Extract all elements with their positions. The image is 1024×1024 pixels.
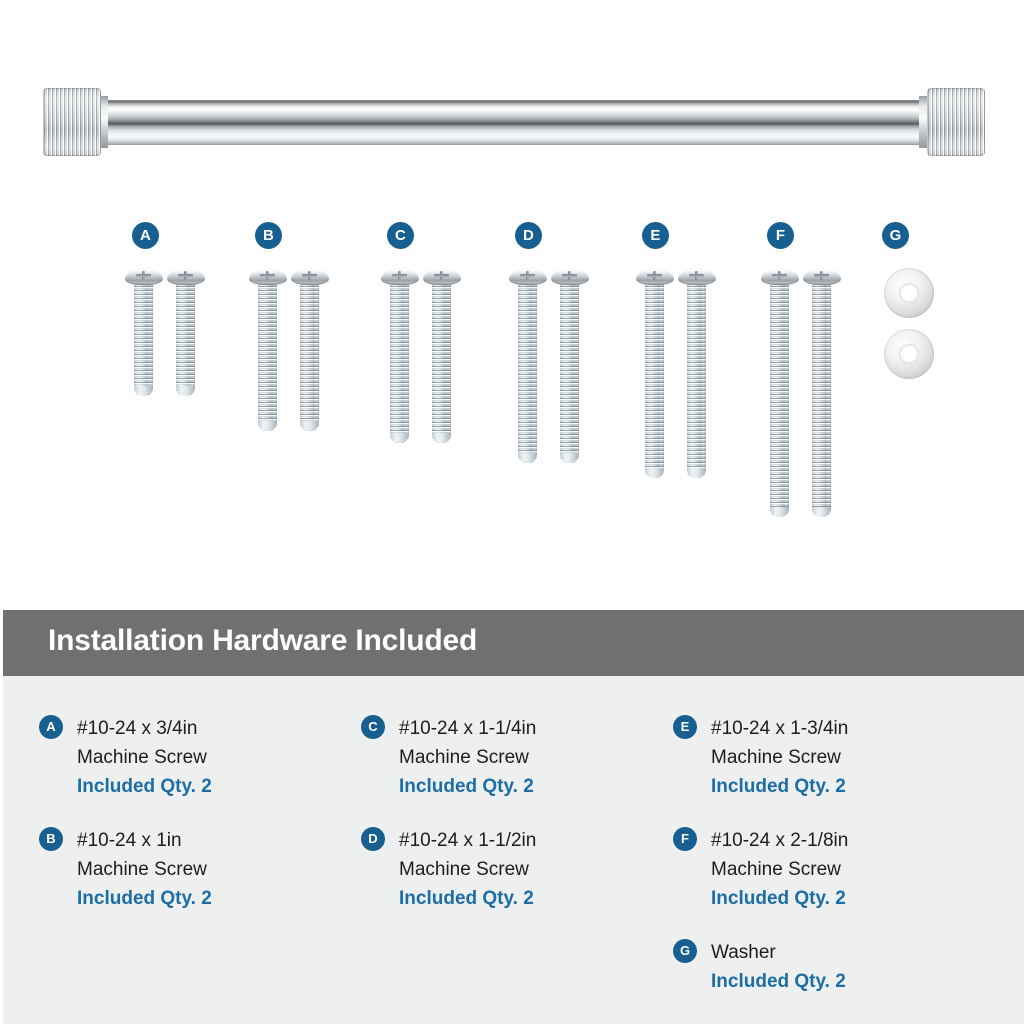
screw-shaft	[258, 281, 277, 431]
washer-icon	[884, 268, 934, 318]
legend-qty-label: Included Qty. 2	[399, 772, 671, 801]
legend-entry-c: C#10-24 x 1-1/4inMachine ScrewIncluded Q…	[361, 714, 671, 801]
knurled-end-cap-icon-right	[927, 88, 985, 156]
legend-badge-f: F	[673, 827, 697, 851]
legend-column-1: A#10-24 x 3/4inMachine ScrewIncluded Qty…	[39, 714, 349, 938]
legend-part-label: Machine Screw	[77, 855, 349, 884]
legend-part-label: Machine Screw	[77, 743, 349, 772]
legend-entry-g: GWasherIncluded Qty. 2	[673, 938, 993, 996]
legend-size-label: Washer	[711, 938, 993, 967]
machine-screw-icon	[768, 268, 792, 521]
legend-part-label: Machine Screw	[711, 855, 993, 884]
legend-part-label: Machine Screw	[711, 743, 993, 772]
machine-screw-icon	[685, 268, 709, 482]
screw-head-phillips-icon	[803, 268, 841, 285]
legend-entry-b: B#10-24 x 1inMachine ScrewIncluded Qty. …	[39, 826, 349, 913]
legend-size-label: #10-24 x 1-1/2in	[399, 826, 671, 855]
screw-shaft	[432, 281, 451, 443]
legend-column-3: E#10-24 x 1-3/4inMachine ScrewIncluded Q…	[673, 714, 993, 1021]
screw-head-phillips-icon	[249, 268, 287, 285]
legend-size-label: #10-24 x 1-3/4in	[711, 714, 993, 743]
screw-shaft	[176, 281, 195, 396]
washer-icon	[884, 329, 934, 379]
legend-qty-label: Included Qty. 2	[77, 772, 349, 801]
screw-head-phillips-icon	[423, 268, 461, 285]
machine-screw-icon	[174, 268, 198, 400]
screw-shaft	[770, 281, 789, 517]
screw-head-phillips-icon	[678, 268, 716, 285]
legend-entry-f: F#10-24 x 2-1/8inMachine ScrewIncluded Q…	[673, 826, 993, 913]
legend-badge-c: C	[361, 715, 385, 739]
screw-shaft	[812, 281, 831, 517]
machine-screw-icon	[558, 268, 582, 467]
tension-rod-product-image	[43, 86, 985, 158]
rod-body	[100, 100, 928, 145]
legend-qty-label: Included Qty. 2	[711, 884, 993, 913]
screw-shaft	[560, 281, 579, 463]
hardware-items-g	[884, 268, 934, 379]
hardware-badge-e: E	[642, 222, 669, 249]
legend-size-label: #10-24 x 2-1/8in	[711, 826, 993, 855]
legend-size-label: #10-24 x 3/4in	[77, 714, 349, 743]
legend-qty-label: Included Qty. 2	[711, 772, 993, 801]
screw-shaft	[645, 281, 664, 478]
legend-size-label: #10-24 x 1in	[77, 826, 349, 855]
legend-part-label: Machine Screw	[399, 855, 671, 884]
product-hardware-sheet: ABCDEFG Installation Hardware Included A…	[0, 0, 1024, 1024]
legend-badge-g: G	[673, 939, 697, 963]
hardware-badge-g: G	[882, 222, 909, 249]
hardware-badge-b: B	[255, 222, 282, 249]
legend-badge-d: D	[361, 827, 385, 851]
legend-badge-e: E	[673, 715, 697, 739]
hardware-items-d	[516, 268, 582, 467]
screw-shaft	[300, 281, 319, 431]
panel-header-bar: Installation Hardware Included	[3, 610, 1024, 676]
legend-part-label: Machine Screw	[399, 743, 671, 772]
screw-head-phillips-icon	[509, 268, 547, 285]
machine-screw-icon	[643, 268, 667, 482]
screw-head-phillips-icon	[761, 268, 799, 285]
hardware-items-a	[132, 268, 198, 400]
machine-screw-icon	[430, 268, 454, 447]
hardware-items-b	[256, 268, 322, 435]
machine-screw-icon	[132, 268, 156, 400]
hardware-badge-d: D	[515, 222, 542, 249]
legend-entry-e: E#10-24 x 1-3/4inMachine ScrewIncluded Q…	[673, 714, 993, 801]
hardware-badge-c: C	[387, 222, 414, 249]
screw-head-phillips-icon	[636, 268, 674, 285]
machine-screw-icon	[256, 268, 280, 435]
legend-qty-label: Included Qty. 2	[399, 884, 671, 913]
screw-head-phillips-icon	[167, 268, 205, 285]
hardware-items-e	[643, 268, 709, 482]
legend-entry-d: D#10-24 x 1-1/2inMachine ScrewIncluded Q…	[361, 826, 671, 913]
installation-hardware-panel: Installation Hardware Included A#10-24 x…	[3, 610, 1024, 1024]
legend-entry-a: A#10-24 x 3/4inMachine ScrewIncluded Qty…	[39, 714, 349, 801]
legend-qty-label: Included Qty. 2	[711, 967, 993, 996]
screw-head-phillips-icon	[125, 268, 163, 285]
legend-column-2: C#10-24 x 1-1/4inMachine ScrewIncluded Q…	[361, 714, 671, 938]
machine-screw-icon	[810, 268, 834, 521]
product-photo-area: ABCDEFG	[0, 0, 1024, 610]
legend-badge-a: A	[39, 715, 63, 739]
legend-badge-b: B	[39, 827, 63, 851]
screw-shaft	[687, 281, 706, 478]
screw-shaft	[518, 281, 537, 463]
machine-screw-icon	[298, 268, 322, 435]
hardware-items-f	[768, 268, 834, 521]
legend-size-label: #10-24 x 1-1/4in	[399, 714, 671, 743]
legend-qty-label: Included Qty. 2	[77, 884, 349, 913]
machine-screw-icon	[516, 268, 540, 467]
screw-head-phillips-icon	[291, 268, 329, 285]
page-title: Installation Hardware Included	[48, 624, 477, 658]
screw-shaft	[390, 281, 409, 443]
machine-screw-icon	[388, 268, 412, 447]
hardware-legend: A#10-24 x 3/4inMachine ScrewIncluded Qty…	[3, 676, 1024, 1024]
screw-head-phillips-icon	[551, 268, 589, 285]
hardware-badge-f: F	[767, 222, 794, 249]
knurled-end-cap-icon-left	[43, 88, 101, 156]
hardware-items-c	[388, 268, 454, 447]
hardware-badge-a: A	[132, 222, 159, 249]
screw-head-phillips-icon	[381, 268, 419, 285]
screw-shaft	[134, 281, 153, 396]
